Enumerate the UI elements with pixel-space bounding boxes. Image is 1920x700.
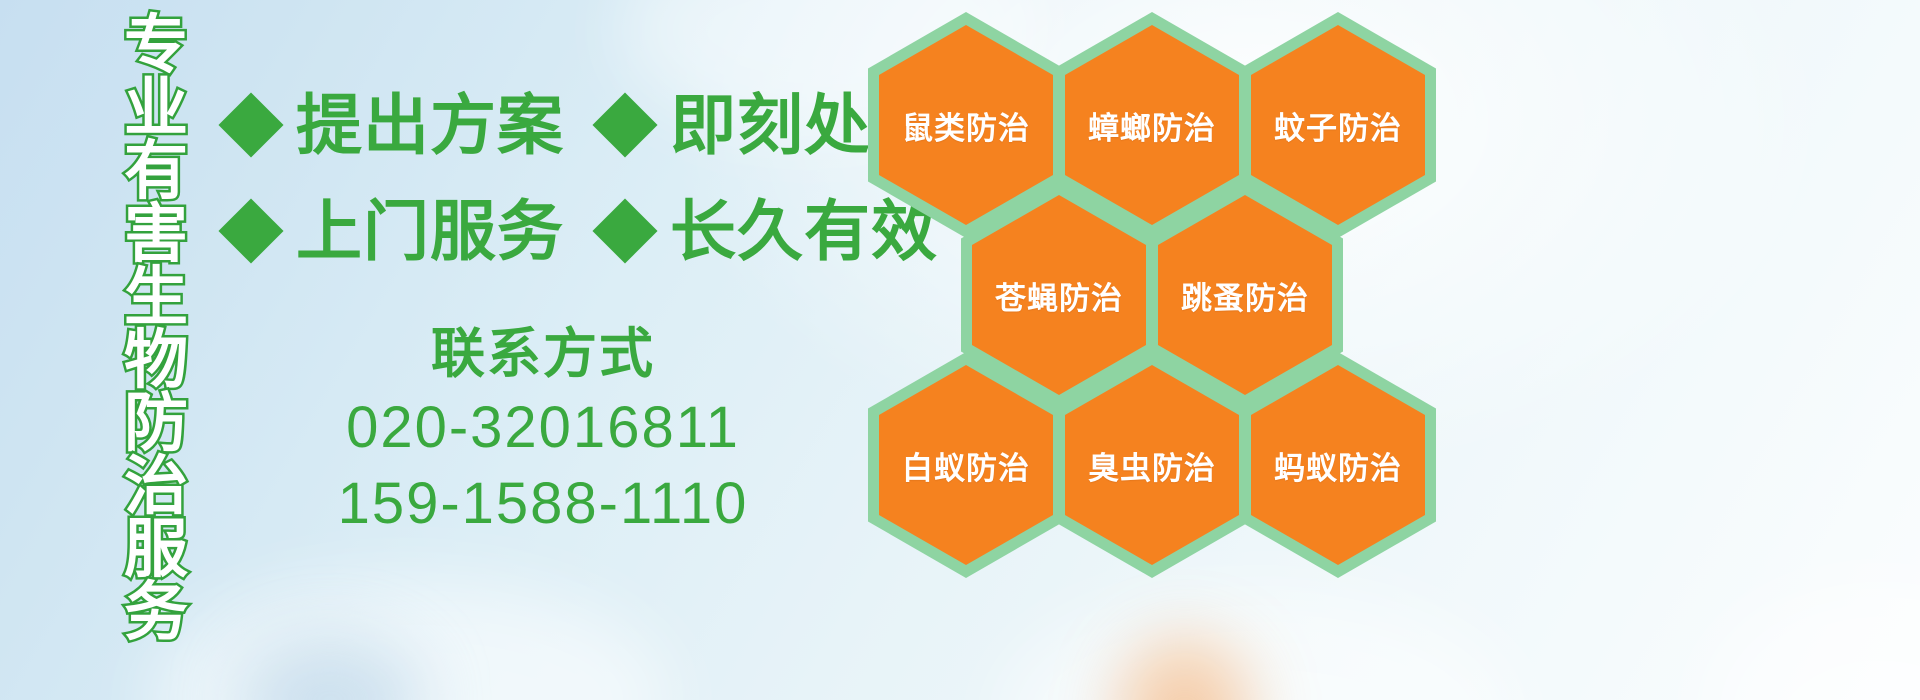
feature-row-1: 提出方案 即刻处理: [228, 92, 938, 158]
background-haze-center: [1000, 590, 1520, 700]
vertical-headline-char: 生: [124, 266, 188, 329]
vertical-headline-char: 业: [124, 77, 188, 140]
service-hex-label: 臭虫防治: [1088, 443, 1216, 488]
service-hex-termite-control[interactable]: 白蚁防治: [868, 352, 1064, 578]
contact-phone-landline[interactable]: 020-32016811: [228, 390, 858, 466]
vertical-headline-char: 有: [124, 140, 188, 203]
vertical-headline-char: 防: [124, 392, 188, 455]
service-hex-label: 蚂蚁防治: [1274, 443, 1402, 488]
vertical-headline-char: 物: [124, 329, 188, 392]
contact-phone-mobile[interactable]: 159-1588-1110: [228, 466, 858, 542]
background-haze-left: [150, 580, 670, 700]
vertical-headline-char: 服: [124, 518, 188, 581]
service-hex-label: 蚊子防治: [1274, 103, 1402, 148]
vertical-headline-char: 务: [124, 581, 188, 644]
service-hex-label: 跳蚤防治: [1181, 273, 1309, 318]
vertical-headline: 专 业 有 害 生 物 防 治 服 务: [104, 14, 208, 554]
feature-row-2: 上门服务 长久有效: [228, 198, 938, 264]
diamond-bullet-icon: [592, 92, 657, 157]
feature-label: 提出方案: [296, 92, 564, 158]
service-hex-label: 白蚁防治: [902, 443, 1030, 488]
service-hex-bedbug-control[interactable]: 臭虫防治: [1054, 352, 1250, 578]
background-haze-left-accent: [240, 640, 420, 700]
vertical-headline-char: 专: [124, 14, 188, 77]
background-haze-orange: [1120, 640, 1250, 700]
service-honeycomb: 鼠类防治 蟑螂防治 蚊子防治 苍蝇防治 跳蚤防治 白蚁防治: [862, 8, 1462, 568]
service-hex-ant-control[interactable]: 蚂蚁防治: [1240, 352, 1436, 578]
service-hex-label: 蟑螂防治: [1088, 103, 1216, 148]
vertical-headline-char: 害: [124, 203, 188, 266]
background-haze-right: [1700, 580, 1920, 700]
promo-banner: 专 业 有 害 生 物 防 治 服 务 提出方案 即刻处理 上门服务 长久有效: [0, 0, 1920, 700]
contact-block: 联系方式 020-32016811 159-1588-1110: [228, 318, 858, 542]
feature-item-onsite-service: 上门服务: [228, 198, 564, 264]
diamond-bullet-icon: [218, 198, 283, 263]
feature-label: 上门服务: [296, 198, 564, 264]
service-hex-label: 鼠类防治: [902, 103, 1030, 148]
vertical-headline-char: 治: [124, 455, 188, 518]
diamond-bullet-icon: [218, 92, 283, 157]
feature-item-propose-plan: 提出方案: [228, 92, 564, 158]
diamond-bullet-icon: [592, 198, 657, 263]
service-hex-label: 苍蝇防治: [995, 273, 1123, 318]
contact-heading: 联系方式: [228, 318, 858, 390]
